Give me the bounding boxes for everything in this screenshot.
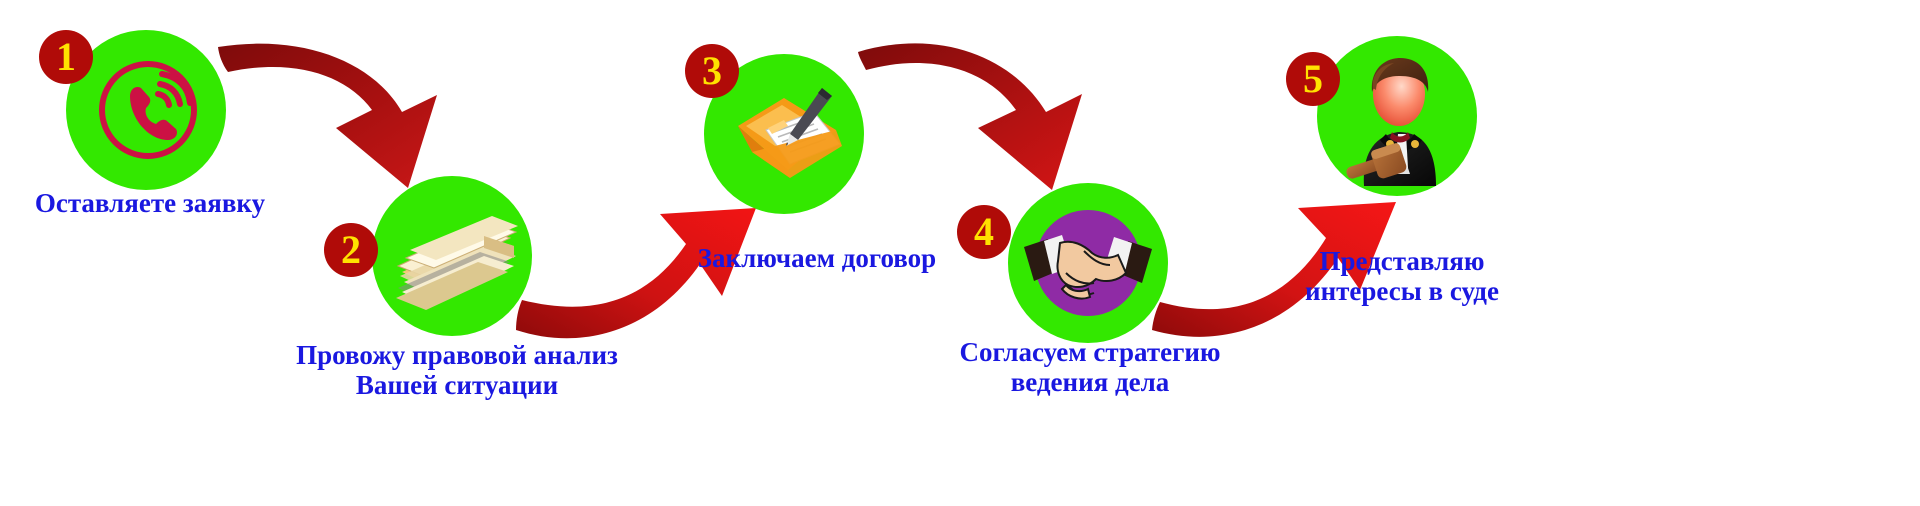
paper-stack-icon bbox=[388, 202, 520, 314]
step-3-label: Заключаем договор bbox=[672, 243, 962, 273]
step-2-number: 2 bbox=[341, 230, 361, 270]
step-3-number: 3 bbox=[702, 51, 722, 91]
step-1-badge[interactable]: 1 bbox=[39, 30, 93, 84]
phone-call-icon bbox=[96, 58, 200, 162]
arrow-1-to-2 bbox=[218, 44, 437, 188]
step-4-badge[interactable]: 4 bbox=[957, 205, 1011, 259]
step-5-badge[interactable]: 5 bbox=[1286, 52, 1340, 106]
step-2-label: Провожу правовой анализ Вашей ситуации bbox=[262, 340, 652, 400]
step-5-number: 5 bbox=[1303, 59, 1323, 99]
step-1-label: Оставляете заявку bbox=[10, 188, 290, 218]
step-4-label: Согласуем стратегию ведения дела bbox=[905, 337, 1275, 397]
step-2-badge[interactable]: 2 bbox=[324, 223, 378, 277]
step-4-number: 4 bbox=[974, 212, 994, 252]
step-5-label: Представляю интересы в суде bbox=[1262, 246, 1542, 306]
step-3-badge[interactable]: 3 bbox=[685, 44, 739, 98]
arrow-3-to-4 bbox=[858, 43, 1082, 190]
step-1-number: 1 bbox=[56, 37, 76, 77]
infographic-canvas: 1 Оставляете заявку 2 Провожу правовой bbox=[0, 0, 1920, 506]
contract-folder-pen-icon bbox=[728, 82, 852, 190]
judge-gavel-icon bbox=[1336, 50, 1462, 186]
handshake-icon bbox=[1022, 197, 1154, 329]
